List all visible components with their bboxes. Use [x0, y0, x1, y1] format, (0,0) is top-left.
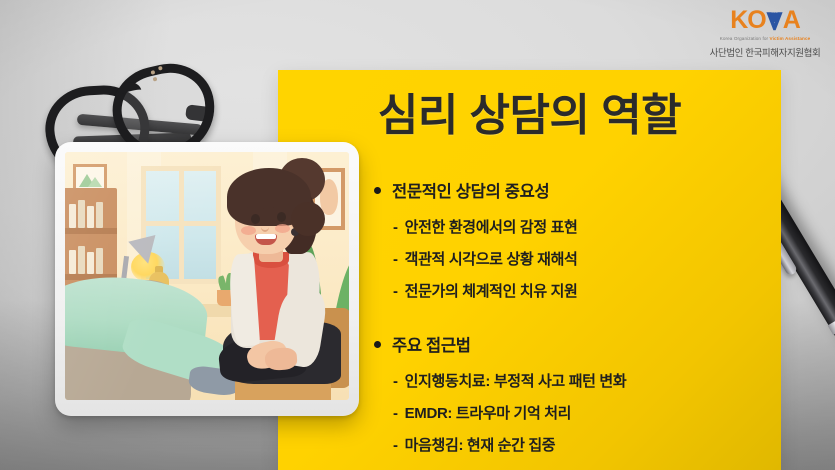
logo-subtitle-english: Korea Organization for Victim Assistance — [709, 36, 821, 41]
section-heading-1: 전문적인 상담의 중요성 — [374, 178, 765, 202]
dash-bullet-icon: - — [393, 251, 398, 268]
logo-subtitle-english-strong: Victim Assistance — [770, 36, 811, 41]
dash-bullet-icon: - — [393, 283, 398, 300]
book — [78, 246, 85, 274]
bullet-content: 전문적인 상담의 중요성 - 안전한 환경에서의 감정 표현 - 객관적 시각으… — [374, 178, 765, 466]
dash-bullet-icon: - — [393, 405, 398, 422]
logo-letter-k: K — [730, 8, 747, 33]
book — [96, 202, 103, 228]
list-item-label: EMDR: 트라우마 기억 처리 — [405, 402, 571, 423]
list-item: - 인지행동치료: 부정적 사고 패턴 변화 — [393, 370, 765, 391]
photo-frame — [55, 142, 359, 416]
section-heading-label: 주요 접근법 — [392, 332, 471, 356]
blue-heart-icon — [765, 11, 784, 31]
list-item: - 전문가의 체계적인 치유 지원 — [393, 280, 765, 301]
list-item-label: 마음챙김: 현재 순간 집중 — [405, 434, 556, 455]
picture-hill — [88, 177, 102, 187]
section-divider-space — [374, 312, 765, 332]
shelf-plank — [65, 228, 117, 234]
section-heading-2: 주요 접근법 — [374, 332, 765, 356]
list-item-label: 전문가의 체계적인 치유 지원 — [405, 280, 578, 301]
section-2-list: - 인지행동치료: 부정적 사고 패턴 변화 - EMDR: 트라우마 기억 처… — [374, 370, 765, 455]
presentation-slide: 심리 상담의 역할 전문적인 상담의 중요성 - 안전한 환경에서의 감정 표현… — [0, 0, 835, 470]
book — [78, 200, 85, 228]
nose — [261, 222, 269, 232]
section-1-list: - 안전한 환경에서의 감정 표현 - 객관적 시각으로 상황 재해석 - 전문… — [374, 216, 765, 301]
book — [69, 250, 76, 274]
filled-circle-bullet-icon — [374, 187, 381, 194]
counselor-figure — [191, 160, 349, 400]
cheek-blush-right — [275, 224, 290, 233]
book — [87, 252, 94, 274]
dash-bullet-icon: - — [393, 219, 398, 236]
illustration-scene — [65, 152, 349, 400]
list-item-label: 인지행동치료: 부정적 사고 패턴 변화 — [405, 370, 627, 391]
kova-logo-mark: K O A — [709, 8, 821, 33]
list-item: - EMDR: 트라우마 기억 처리 — [393, 402, 765, 423]
cheek-blush-left — [241, 226, 256, 235]
eye-left — [251, 214, 260, 224]
list-item: - 객관적 시각으로 상황 재해석 — [393, 248, 765, 269]
eyebrow-right — [273, 204, 289, 209]
book — [96, 248, 103, 274]
section-group-1: 전문적인 상담의 중요성 - 안전한 환경에서의 감정 표현 - 객관적 시각으… — [374, 178, 765, 301]
list-item-label: 객관적 시각으로 상황 재해석 — [405, 248, 578, 269]
list-item: - 안전한 환경에서의 감정 표현 — [393, 216, 765, 237]
section-heading-label: 전문적인 상담의 중요성 — [392, 178, 549, 202]
list-item: - 마음챙김: 현재 순간 집중 — [393, 434, 765, 455]
teeth — [256, 234, 276, 239]
book — [69, 204, 76, 228]
list-item-label: 안전한 환경에서의 감정 표현 — [405, 216, 578, 237]
logo-letter-o: O — [747, 8, 765, 33]
hair-bun-lower — [291, 202, 325, 236]
counseling-session-illustration — [65, 152, 349, 400]
eye-right — [277, 212, 286, 222]
dash-bullet-icon: - — [393, 373, 398, 390]
section-group-2: 주요 접근법 - 인지행동치료: 부정적 사고 패턴 변화 - EMDR: 트라… — [374, 332, 765, 455]
logo-subtitle-korean: 사단법인 한국피해자지원협회 — [709, 45, 821, 59]
logo-letter-a: A — [783, 8, 800, 33]
kova-logo: K O A Korea Organization for Victim Assi… — [709, 8, 821, 59]
logo-subtitle-english-prefix: Korea Organization for — [720, 36, 770, 41]
page-title: 심리 상담의 역할 — [278, 92, 781, 140]
dash-bullet-icon: - — [393, 437, 398, 454]
book — [87, 206, 94, 228]
filled-circle-bullet-icon — [374, 341, 381, 348]
